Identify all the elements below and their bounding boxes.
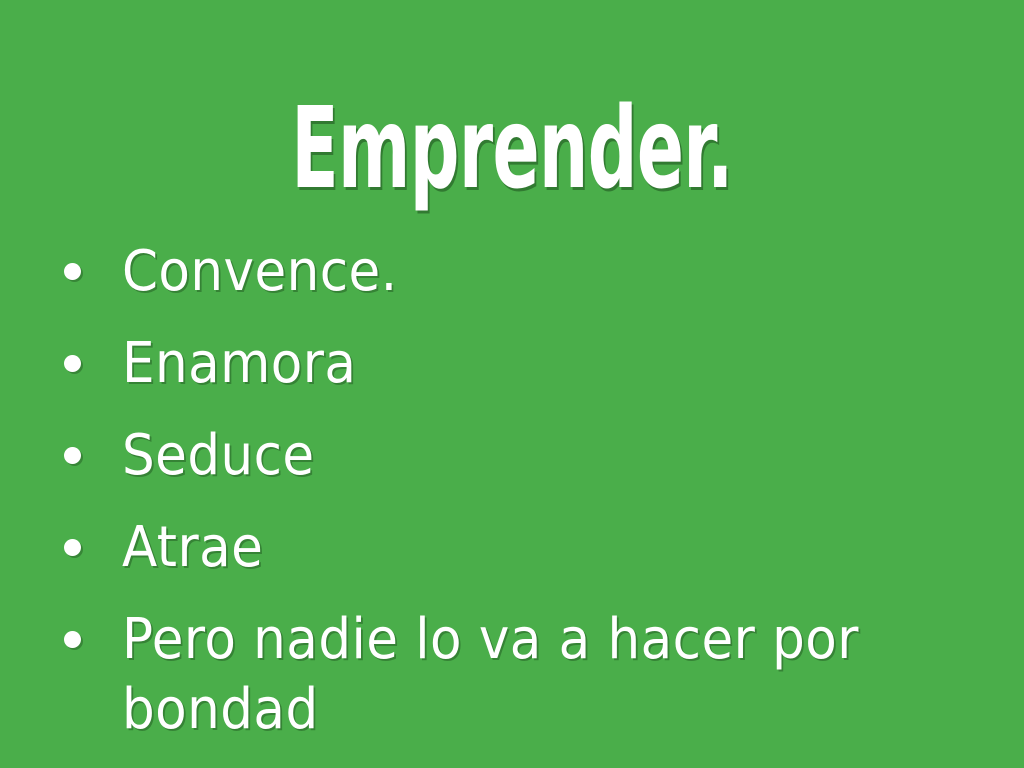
list-item: Enamora [58,329,988,401]
bullet-point-icon [64,539,81,556]
list-item: Pero nadie lo va a hacer por bondad [58,605,988,745]
bullet-point-icon [64,263,81,280]
bullet-list: Convence. Enamora Seduce Atrae Pero nadi… [58,237,988,765]
bullet-point-icon [64,631,81,648]
slide-canvas: Emprender. Convence. Enamora Seduce Atra… [0,0,1024,768]
list-item-label: Convence. [122,237,919,307]
list-item-label: Pero nadie lo va a hacer por bondad [122,605,919,745]
list-item-label: Seduce [122,421,919,491]
list-item-label: Atrae [122,513,919,583]
bullet-point-icon [64,355,81,372]
page-title: Emprender. [195,93,830,205]
list-item: Seduce [58,421,988,493]
list-item: Convence. [58,237,988,309]
bullet-point-icon [64,447,81,464]
list-item-label: Enamora [122,329,919,399]
list-item: Atrae [58,513,988,585]
